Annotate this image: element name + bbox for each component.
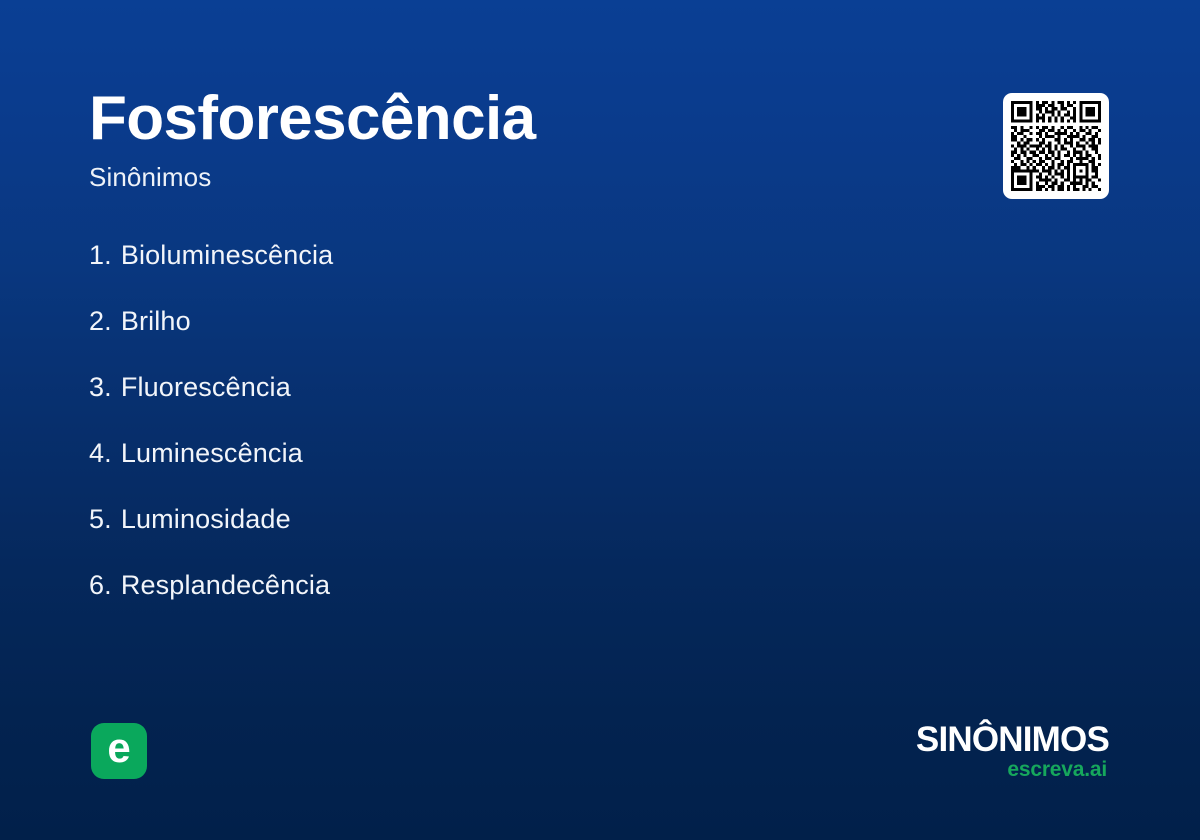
- list-item-index: 6.: [89, 568, 112, 602]
- list-item-index: 5.: [89, 502, 112, 536]
- page-subtitle: Sinônimos: [89, 164, 969, 190]
- list-item-label: Luminescência: [121, 436, 303, 470]
- brand-logo-word: SINÔNIMOS: [809, 722, 1109, 758]
- synonyms-list: 1. Bioluminescência 2. Brilho 3. Fluores…: [89, 238, 889, 634]
- list-item-label: Bioluminescência: [121, 238, 334, 272]
- synonym-card: Fosforescência Sinônimos: [0, 0, 1200, 840]
- list-item-label: Fluorescência: [121, 370, 291, 404]
- list-item: 6. Resplandecência: [89, 568, 889, 634]
- qr-code-icon: [1011, 101, 1101, 191]
- list-item-index: 2.: [89, 304, 112, 338]
- list-item: 2. Brilho: [89, 304, 889, 370]
- escreva-badge-icon[interactable]: e: [91, 723, 147, 779]
- badge-letter: e: [107, 727, 130, 769]
- page-title: Fosforescência: [89, 88, 969, 150]
- header: Fosforescência Sinônimos: [89, 88, 969, 190]
- list-item: 4. Luminescência: [89, 436, 889, 502]
- qr-code-card[interactable]: [1003, 93, 1109, 199]
- list-item: 1. Bioluminescência: [89, 238, 889, 304]
- list-item: 3. Fluorescência: [89, 370, 889, 436]
- list-item-index: 1.: [89, 238, 112, 272]
- list-item-index: 4.: [89, 436, 112, 470]
- list-item-label: Resplandecência: [121, 568, 330, 602]
- list-item-index: 3.: [89, 370, 112, 404]
- list-item-label: Brilho: [121, 304, 191, 338]
- brand-logo-domain: escreva.ai: [809, 759, 1107, 781]
- list-item-label: Luminosidade: [121, 502, 291, 536]
- list-item: 5. Luminosidade: [89, 502, 889, 568]
- brand-logo: SINÔNIMOS escreva.ai: [809, 722, 1109, 781]
